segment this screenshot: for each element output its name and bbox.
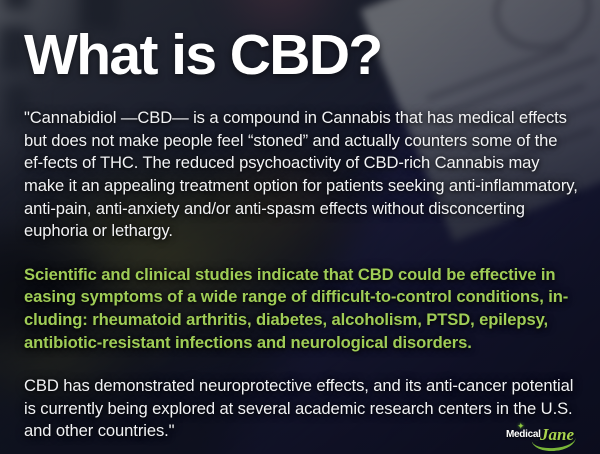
page-title: What is CBD? <box>24 0 578 85</box>
content-column: What is CBD? "Cannabidiol —CBD— is a com… <box>0 0 600 454</box>
paragraph-neuroprotective: CBD has demonstrated neuroprotective eff… <box>24 375 578 443</box>
paragraph-intro: "Cannabidiol —CBD— is a compound in Cann… <box>24 107 578 243</box>
medical-jane-logo[interactable]: ✦ Medical Jane <box>506 422 578 448</box>
cbd-infographic: What is CBD? "Cannabidiol —CBD— is a com… <box>0 0 600 454</box>
paragraph-studies-highlight: Scientific and clinical studies indicate… <box>24 264 578 354</box>
logo-word-medical: Medical <box>506 429 541 440</box>
